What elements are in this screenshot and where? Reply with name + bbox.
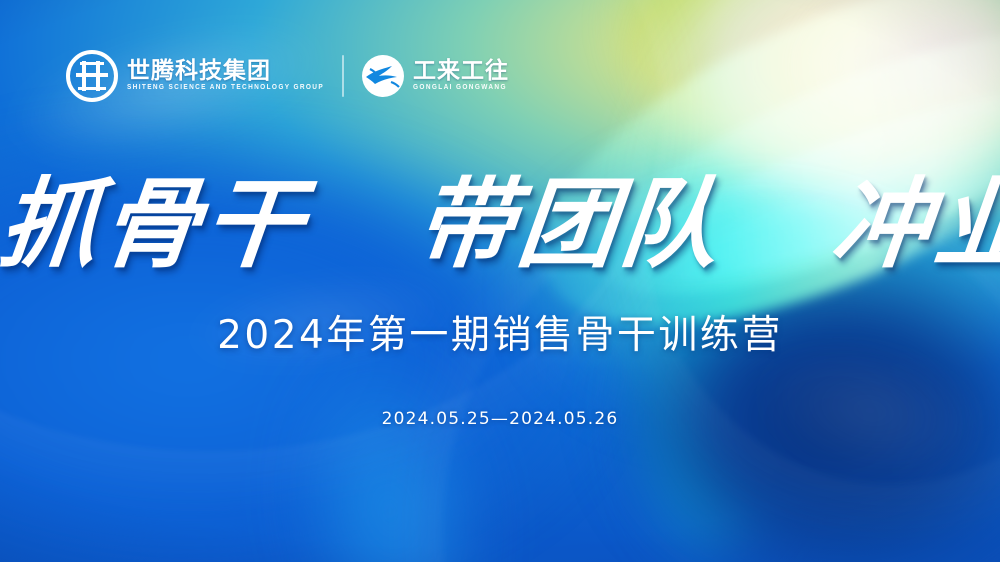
logo-lockup: 世腾科技集团 SHITENG SCIENCE AND TECHNOLOGY GR… bbox=[66, 50, 509, 102]
secondary-logo: 工来工往 GONGLAI GONGWANG bbox=[362, 55, 509, 97]
primary-logo-name-cn: 世腾科技集团 bbox=[127, 60, 324, 83]
secondary-logo-name-en: GONGLAI GONGWANG bbox=[413, 85, 509, 92]
subtitle: 2024年第一期销售骨干训练营 bbox=[0, 316, 1000, 355]
poster-banner: 世腾科技集团 SHITENG SCIENCE AND TECHNOLOGY GR… bbox=[0, 0, 1000, 562]
gonglai-bird-emblem-icon bbox=[362, 55, 404, 97]
headline-segment-1: 抓骨干 bbox=[0, 176, 311, 274]
logo-divider bbox=[342, 55, 344, 97]
headline-segment-3: 冲业绩 bbox=[827, 176, 1000, 274]
headline-segment-2: 带团队 bbox=[411, 176, 727, 274]
primary-logo: 世腾科技集团 SHITENG SCIENCE AND TECHNOLOGY GR… bbox=[66, 50, 324, 102]
primary-logo-name-en: SHITENG SCIENCE AND TECHNOLOGY GROUP bbox=[127, 85, 324, 92]
secondary-logo-text: 工来工往 GONGLAI GONGWANG bbox=[413, 60, 509, 92]
headline: 抓骨干 带团队 冲业绩 bbox=[0, 176, 1000, 274]
primary-logo-text: 世腾科技集团 SHITENG SCIENCE AND TECHNOLOGY GR… bbox=[127, 60, 324, 92]
poster-content: 世腾科技集团 SHITENG SCIENCE AND TECHNOLOGY GR… bbox=[0, 0, 1000, 562]
secondary-logo-name-cn: 工来工往 bbox=[413, 60, 509, 83]
shiteng-circle-emblem-icon bbox=[66, 50, 118, 102]
date-range: 2024.05.25—2024.05.26 bbox=[0, 409, 1000, 429]
